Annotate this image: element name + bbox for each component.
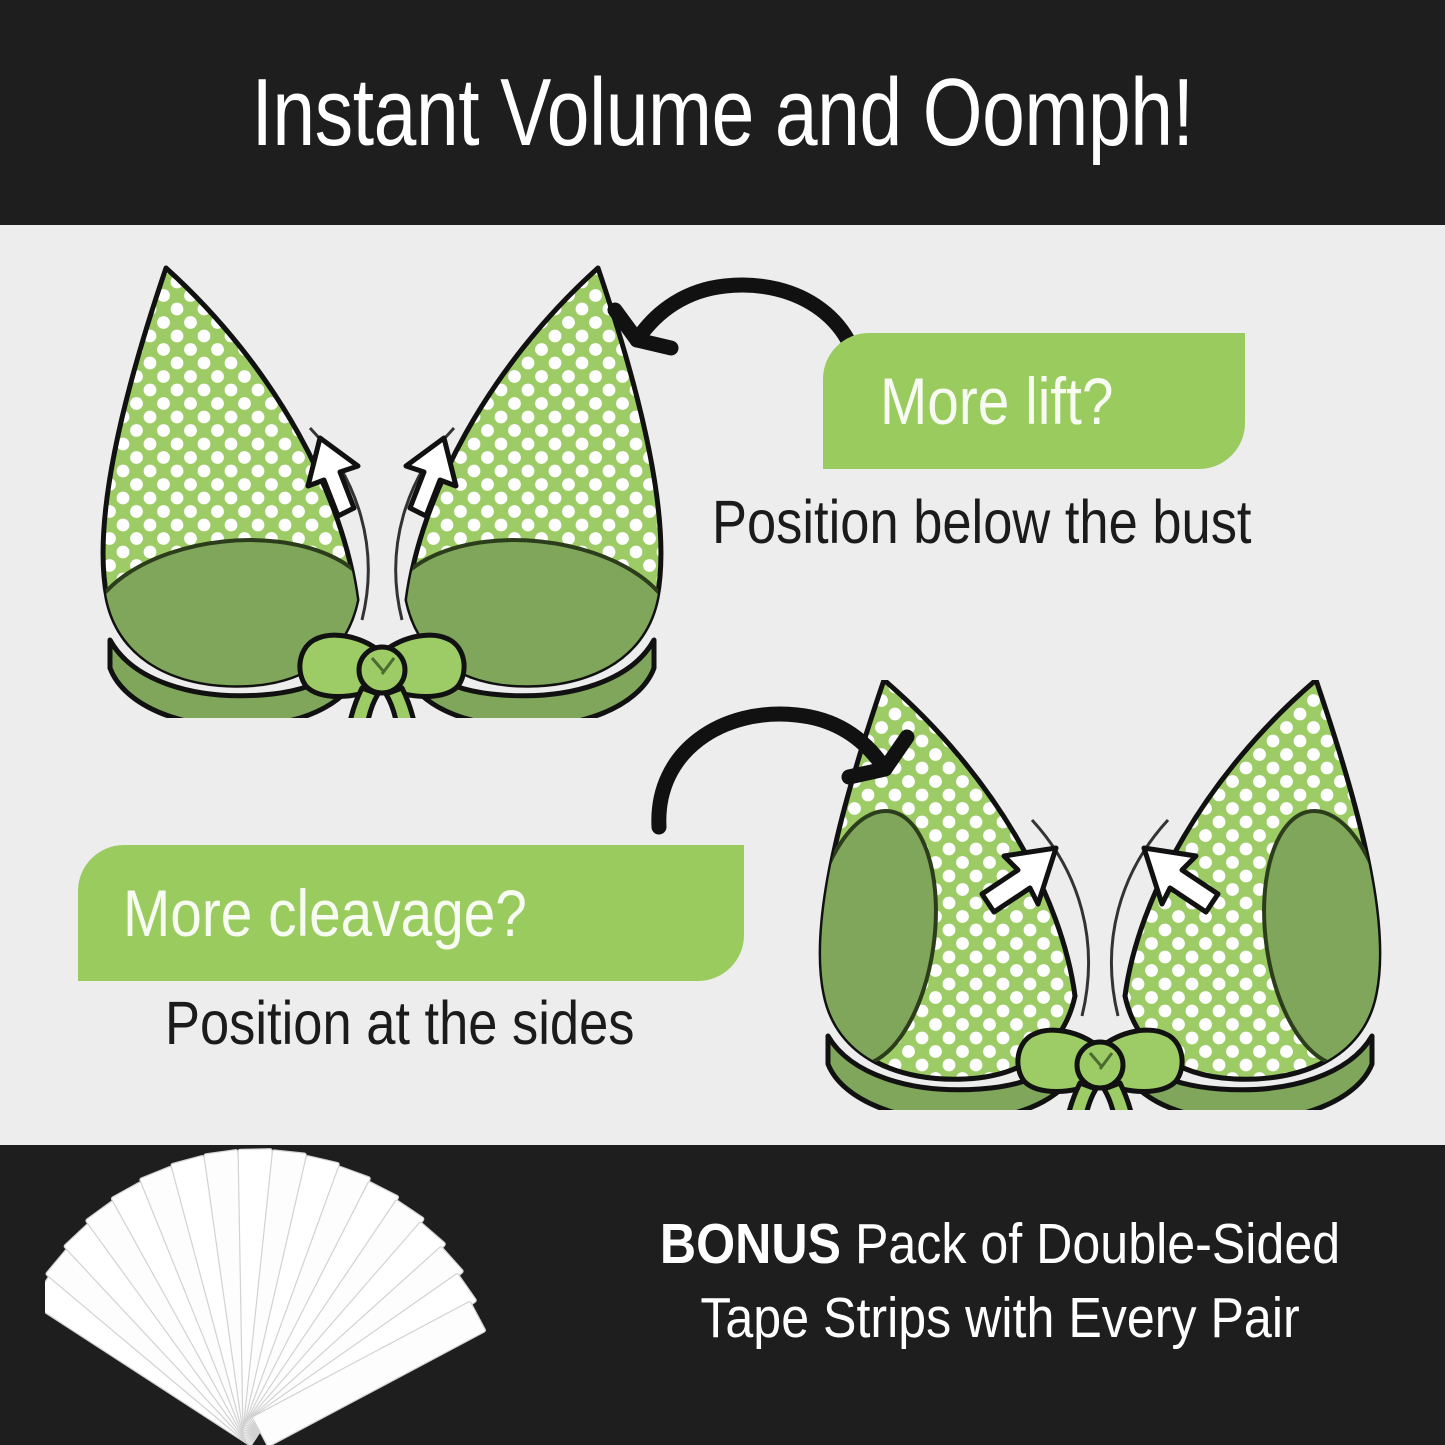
bonus-line-2: Tape Strips with Every Pair <box>700 1286 1299 1350</box>
bonus-bold-word: BONUS <box>660 1212 841 1276</box>
caption-more-lift: Position below the bust <box>712 487 1252 557</box>
bonus-text: BONUS Pack of Double-Sided Tape Strips w… <box>613 1208 1387 1355</box>
page-title: Instant Volume and Oomph! <box>145 0 1301 225</box>
caption-more-cleavage: Position at the sides <box>165 988 635 1058</box>
bonus-line-1: BONUS Pack of Double-Sided <box>660 1212 1340 1276</box>
infographic-page: Instant Volume and Oomph! <box>0 0 1445 1445</box>
badge-more-lift-label: More lift? <box>880 363 1113 439</box>
bonus-line-1-rest: Pack of Double-Sided <box>841 1212 1340 1276</box>
badge-more-cleavage-label: More cleavage? <box>123 875 527 951</box>
badge-more-lift: More lift? <box>823 333 1245 469</box>
tape-strips-fan-icon <box>45 1140 555 1445</box>
curved-arrow-to-bra-bottom-icon <box>645 685 945 835</box>
badge-more-cleavage: More cleavage? <box>78 845 744 981</box>
